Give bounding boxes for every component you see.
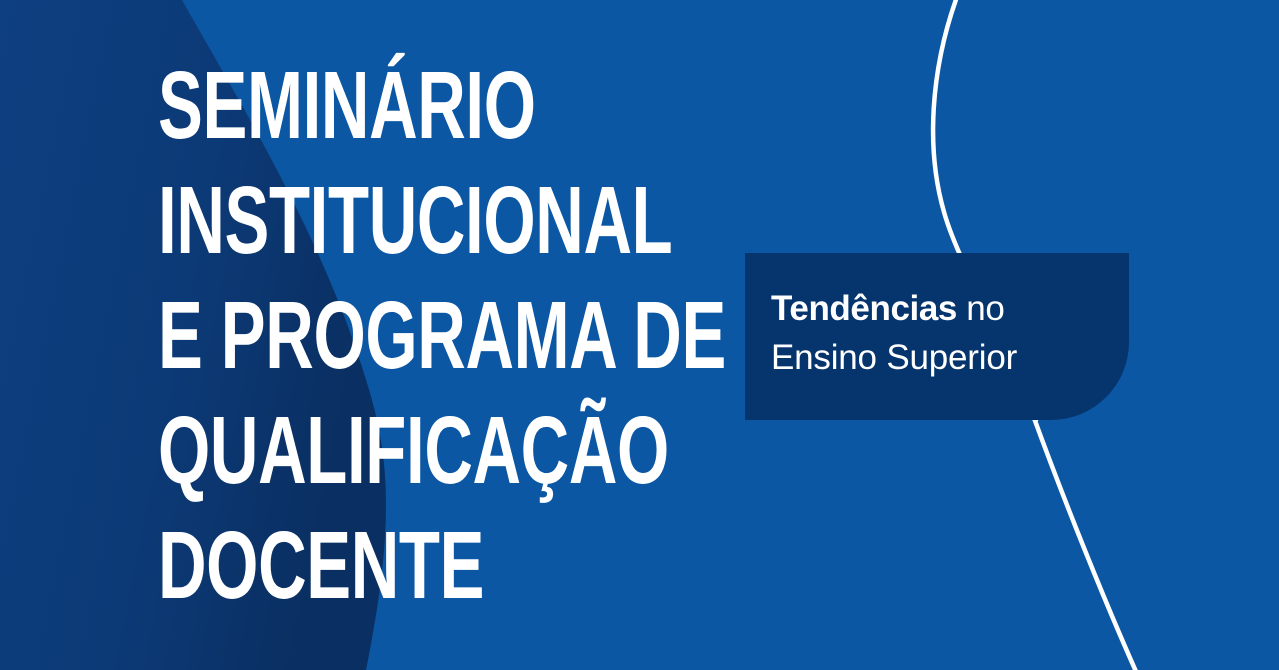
badge-light-text: no — [957, 289, 1004, 328]
headline-line-5: DOCENTE — [158, 508, 550, 623]
program-badge: Tendências no Ensino Superior — [745, 253, 1129, 420]
promo-banner: SEMINÁRIO INSTITUCIONAL E PROGRAMA DE QU… — [0, 0, 1279, 670]
page-title: SEMINÁRIO INSTITUCIONAL E PROGRAMA DE QU… — [158, 48, 718, 623]
headline-line-2: INSTITUCIONAL — [158, 163, 550, 278]
badge-line-1: Tendências no — [771, 284, 1129, 333]
white-curve-bottom — [1034, 418, 1138, 670]
headline-line-3: E PROGRAMA DE — [158, 278, 550, 393]
headline-line-4: QUALIFICAÇÃO — [158, 393, 550, 508]
badge-strong-text: Tendências — [771, 289, 957, 328]
headline-line-1: SEMINÁRIO — [158, 48, 550, 163]
badge-line-2: Ensino Superior — [771, 333, 1129, 382]
